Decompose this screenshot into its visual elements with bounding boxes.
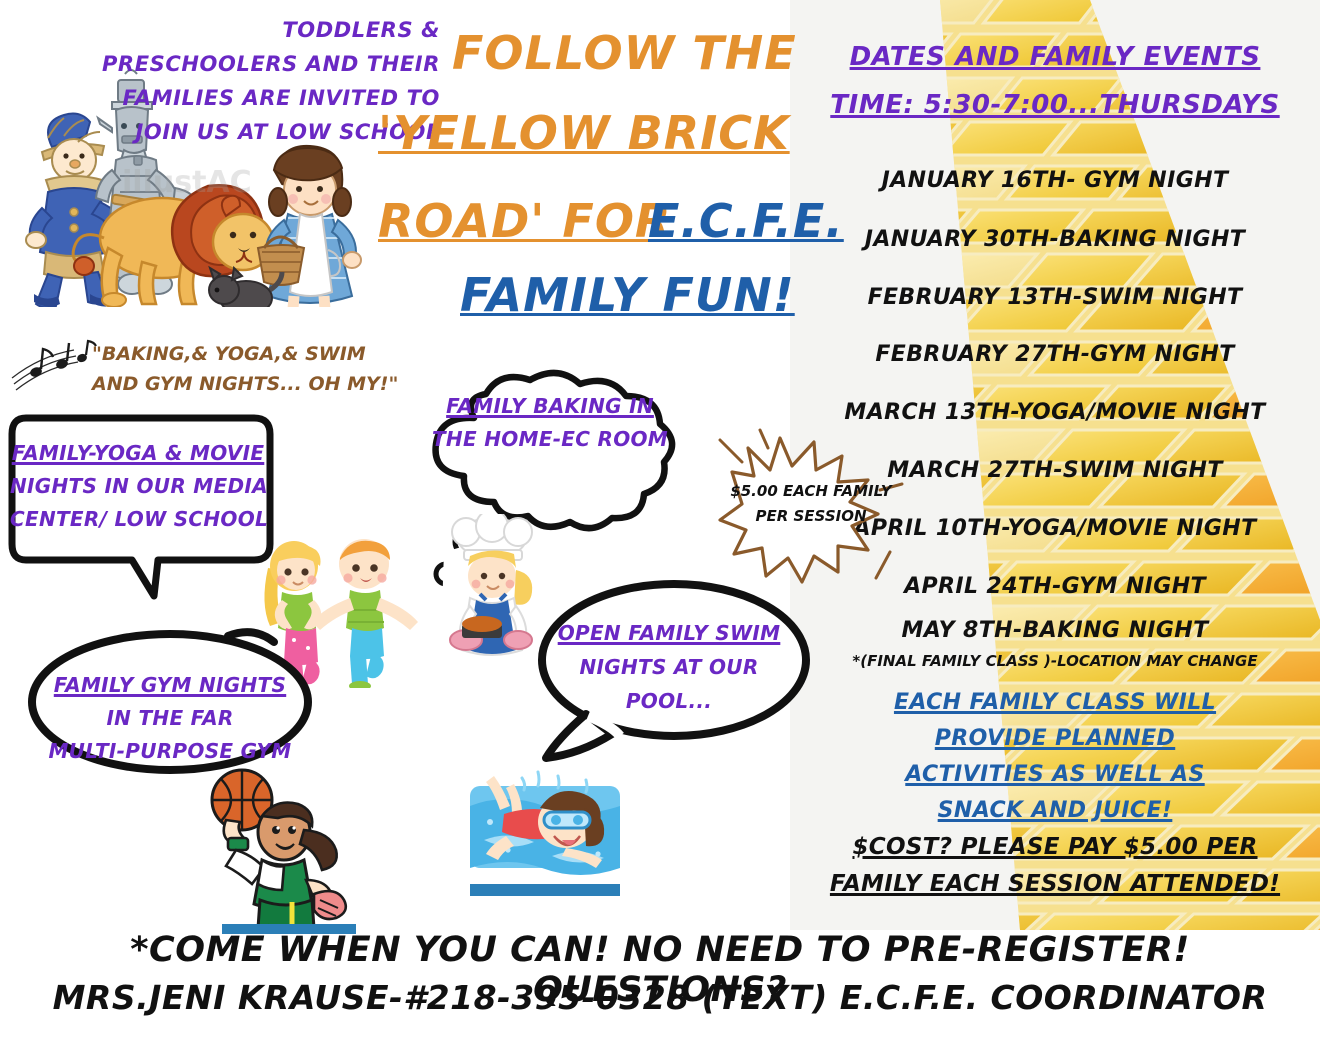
yoga-bubble-line-2: NIGHTS IN OUR MEDIA bbox=[10, 473, 266, 500]
oh-my-line-1: "BAKING,& YOGA,& SWIM bbox=[92, 342, 362, 368]
event-row: JANUARY 30TH-BAKING NIGHT bbox=[790, 227, 1320, 252]
baking-bubble-line-2: THE HOME-EC ROOM bbox=[430, 426, 670, 453]
gym-bubble-line-1: FAMILY GYM NIGHTS bbox=[30, 672, 310, 699]
blue-info-line: PROVIDE PLANNED bbox=[790, 726, 1320, 751]
dorothy-figure bbox=[258, 146, 361, 307]
price-line-1: $5.00 EACH FAMILY bbox=[716, 481, 906, 502]
invite-line: JOIN US AT LOW SCHOOL bbox=[0, 120, 440, 144]
title-line-3b: E.C.F.E. bbox=[648, 198, 844, 245]
title-line-4: FAMILY FUN! bbox=[460, 272, 795, 319]
blue-info-line: EACH FAMILY CLASS WILL bbox=[790, 690, 1320, 715]
event-row: MARCH 13TH-YOGA/MOVIE NIGHT bbox=[790, 400, 1320, 425]
cost-line: $COST? PLEASE PAY $5.00 PER bbox=[790, 834, 1320, 860]
swim-bubble-line-1: OPEN FAMILY SWIM bbox=[534, 620, 804, 647]
blue-info-line: SNACK AND JUICE! bbox=[790, 798, 1320, 823]
footer-line-2: MRS.JENI KRAUSE-#218-395-0328 (TEXT) E.C… bbox=[0, 978, 1320, 1017]
flyer-canvas: DATES AND FAMILY EVENTS TIME: 5:30-7:00.… bbox=[0, 0, 1320, 1055]
yoga-bubble-line-3: CENTER/ LOW SCHOOL bbox=[10, 506, 266, 533]
event-row: FEBRUARY 27TH-GYM NIGHT bbox=[790, 342, 1320, 367]
oh-my-line-2: AND GYM NIGHTS... OH MY!" bbox=[92, 372, 362, 398]
invite-line: FAMILIES ARE INVITED TO bbox=[0, 86, 440, 110]
event-row: MAY 8TH-BAKING NIGHT bbox=[790, 618, 1320, 643]
invite-line: TODDLERS & bbox=[0, 18, 440, 42]
oz-watermark: illustAC bbox=[122, 165, 252, 200]
final-class-note: *(FINAL FAMILY CLASS )-LOCATION MAY CHAN… bbox=[790, 652, 1320, 670]
blue-info-line: ACTIVITIES AS WELL AS bbox=[790, 762, 1320, 787]
gym-bubble-line-3: MULTI-PURPOSE GYM bbox=[30, 738, 310, 765]
title-line-2: 'YELLOW BRICK bbox=[378, 110, 790, 157]
basketball-girl-illustration bbox=[196, 764, 356, 934]
event-row: JANUARY 16TH- GYM NIGHT bbox=[790, 168, 1320, 193]
title-line-1: FOLLOW THE bbox=[452, 30, 797, 77]
baking-bubble-line-1: FAMILY BAKING IN bbox=[430, 393, 670, 420]
yoga-boy-figure bbox=[312, 539, 418, 688]
price-starburst-callout bbox=[706, 424, 914, 584]
yoga-speech-bubble bbox=[4, 404, 276, 604]
price-line-2: PER SESSION bbox=[716, 506, 906, 527]
swim-bubble-line-2: NIGHTS AT OUR bbox=[534, 654, 804, 681]
cost-line: FAMILY EACH SESSION ATTENDED! bbox=[790, 871, 1320, 897]
swim-bubble-line-3: POOL... bbox=[534, 688, 804, 715]
yoga-bubble-line-1: FAMILY-YOGA & MOVIE bbox=[10, 440, 266, 467]
title-line-3a: ROAD' FOR bbox=[378, 198, 671, 245]
music-notes-icon bbox=[10, 338, 102, 392]
invite-line: PRESCHOOLERS AND THEIR bbox=[0, 52, 440, 76]
dates-panel-heading: DATES AND FAMILY EVENTS bbox=[790, 42, 1320, 72]
gym-bubble-line-2: IN THE FAR bbox=[30, 705, 310, 732]
swimmer-illustration bbox=[466, 762, 626, 912]
dates-panel-time: TIME: 5:30-7:00...THURSDAYS bbox=[790, 90, 1320, 120]
event-row: FEBRUARY 13TH-SWIM NIGHT bbox=[790, 285, 1320, 310]
